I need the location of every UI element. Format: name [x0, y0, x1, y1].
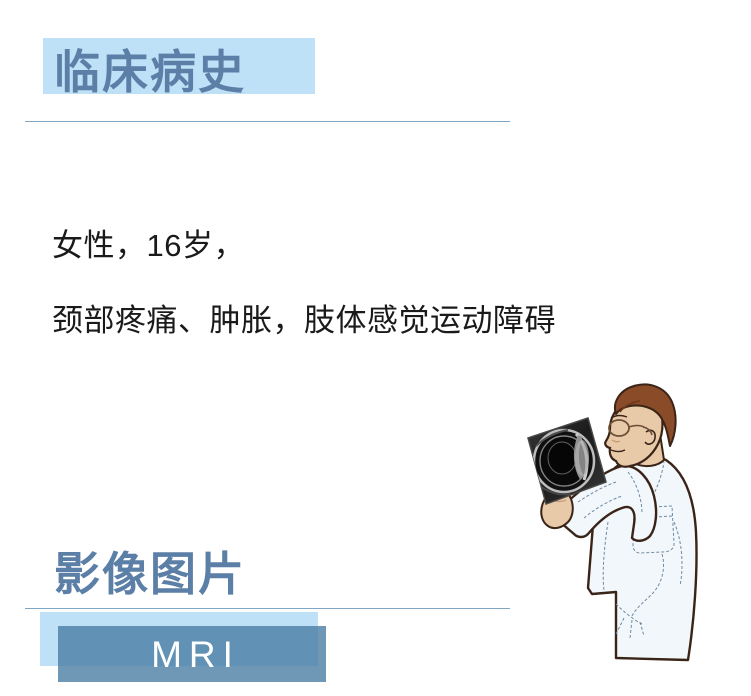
doctor-illustration [512, 372, 748, 682]
imaging-heading: 影像图片 [54, 551, 246, 597]
imaging-divider [25, 608, 510, 609]
patient-symptoms-line: 颈部疼痛、肿胀，肢体感觉运动障碍 [52, 303, 556, 339]
slide-root: 临床病史 女性，16岁， 颈部疼痛、肿胀，肢体感觉运动障碍 影像图片 MRI [0, 0, 751, 696]
clinical-divider [25, 121, 510, 122]
clinical-heading: 临床病史 [54, 49, 246, 95]
patient-demographics-line: 女性，16岁， [52, 228, 245, 264]
doctor-head [605, 384, 675, 466]
mri-modality-label: MRI [58, 626, 326, 682]
